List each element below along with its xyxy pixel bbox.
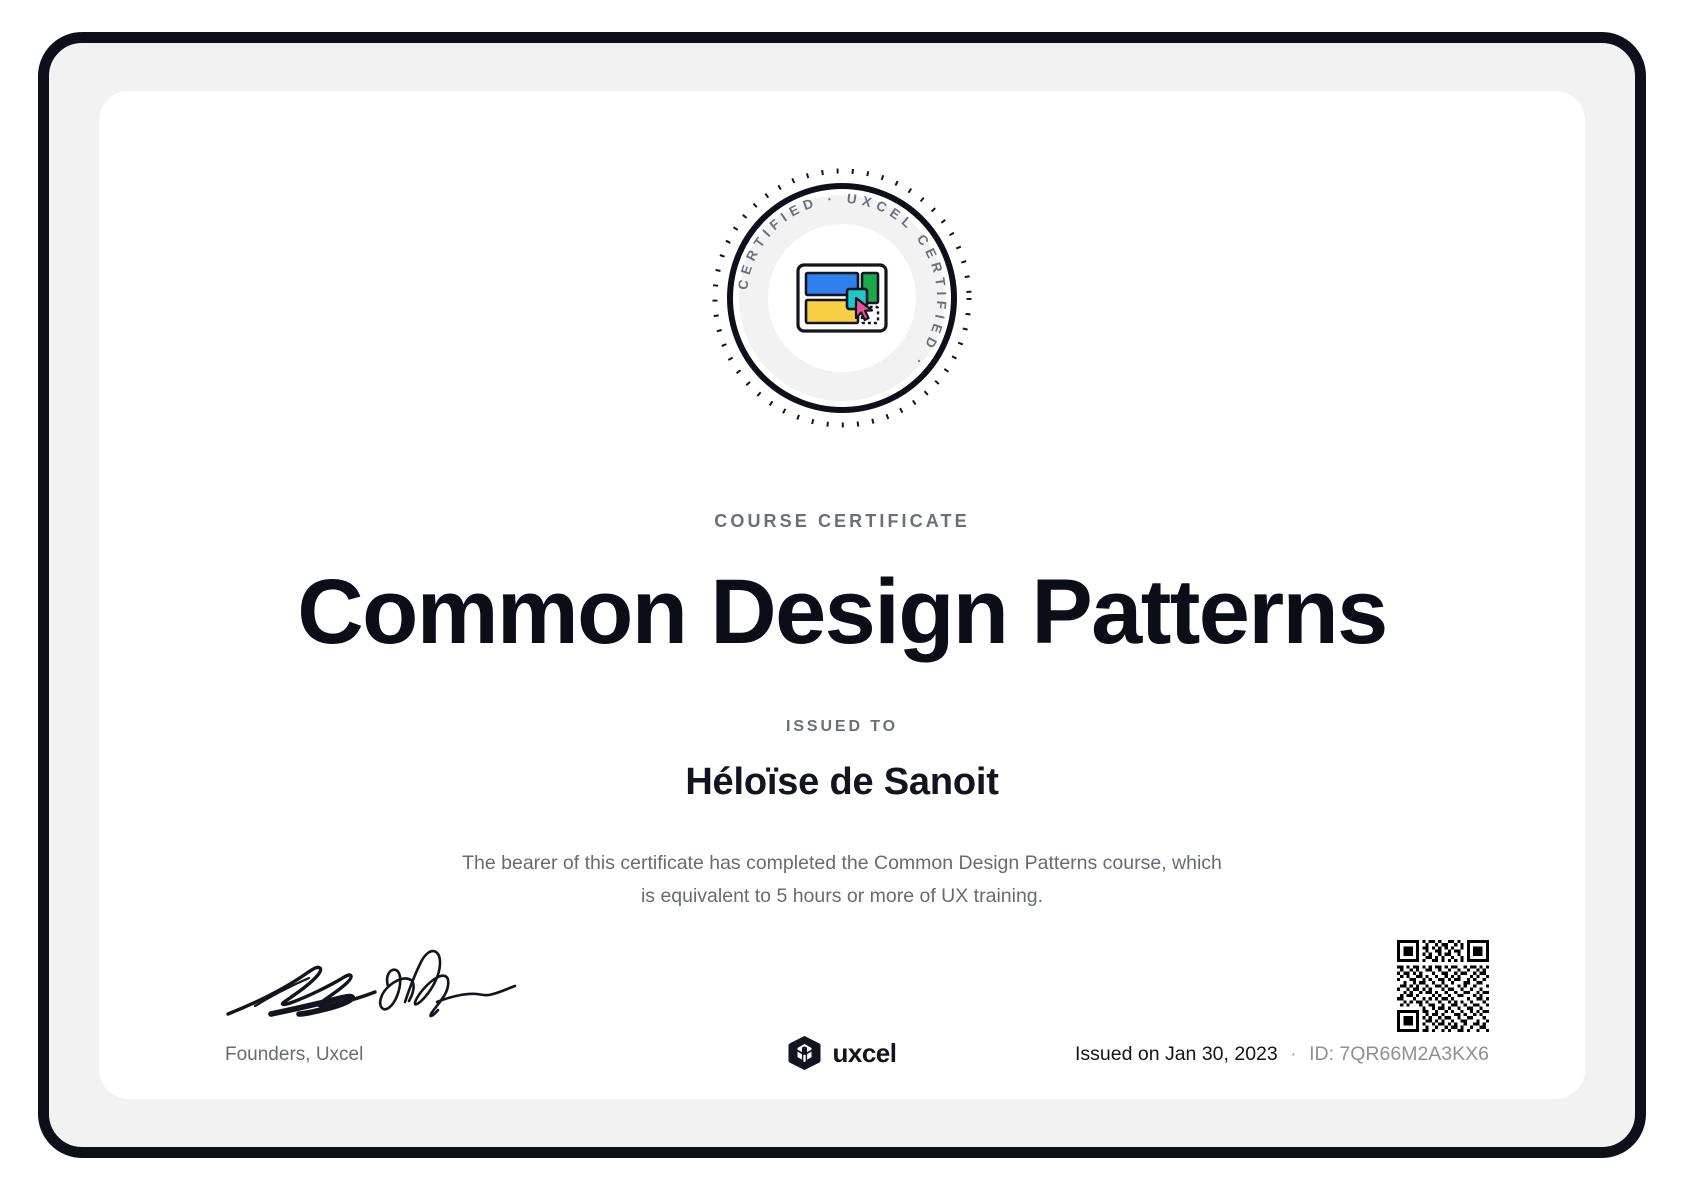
signature-caption: Founders, Uxcel <box>225 1044 363 1066</box>
signature-one <box>228 967 375 1014</box>
meta-separator: · <box>1290 1043 1297 1065</box>
uxcel-certified-seal: UXCEL CERTIFIED · UXCEL CERTIFIED · <box>707 163 977 433</box>
issue-metadata: Issued on Jan 30, 2023 · ID: 7QR66M2A3KX… <box>1075 1043 1489 1066</box>
certificate-id: ID: 7QR66M2A3KX6 <box>1309 1043 1489 1065</box>
uxcel-wordmark: uxcel <box>833 1038 897 1069</box>
certificate-page: UXCEL CERTIFIED · UXCEL CERTIFIED · <box>0 0 1684 1190</box>
uxcel-cube-logo <box>788 1035 822 1071</box>
certificate-card: UXCEL CERTIFIED · UXCEL CERTIFIED · <box>99 91 1585 1099</box>
certificate-outer-frame: UXCEL CERTIFIED · UXCEL CERTIFIED · <box>38 32 1646 1158</box>
uxcel-brand-logo: uxcel <box>788 1035 897 1071</box>
signature-two <box>380 951 515 1016</box>
page-title: Common Design Patterns <box>99 561 1585 664</box>
certificate-description: The bearer of this certificate has compl… <box>462 847 1222 913</box>
issued-to-label: ISSUED TO <box>99 718 1585 736</box>
founder-signatures <box>225 946 525 1026</box>
design-patterns-icon <box>798 265 886 331</box>
verification-qr-code[interactable] <box>1397 940 1489 1032</box>
issued-on-text: Issued on Jan 30, 2023 <box>1075 1043 1278 1065</box>
course-certificate-kicker: COURSE CERTIFICATE <box>99 511 1585 532</box>
recipient-name: Héloïse de Sanoit <box>99 761 1585 804</box>
